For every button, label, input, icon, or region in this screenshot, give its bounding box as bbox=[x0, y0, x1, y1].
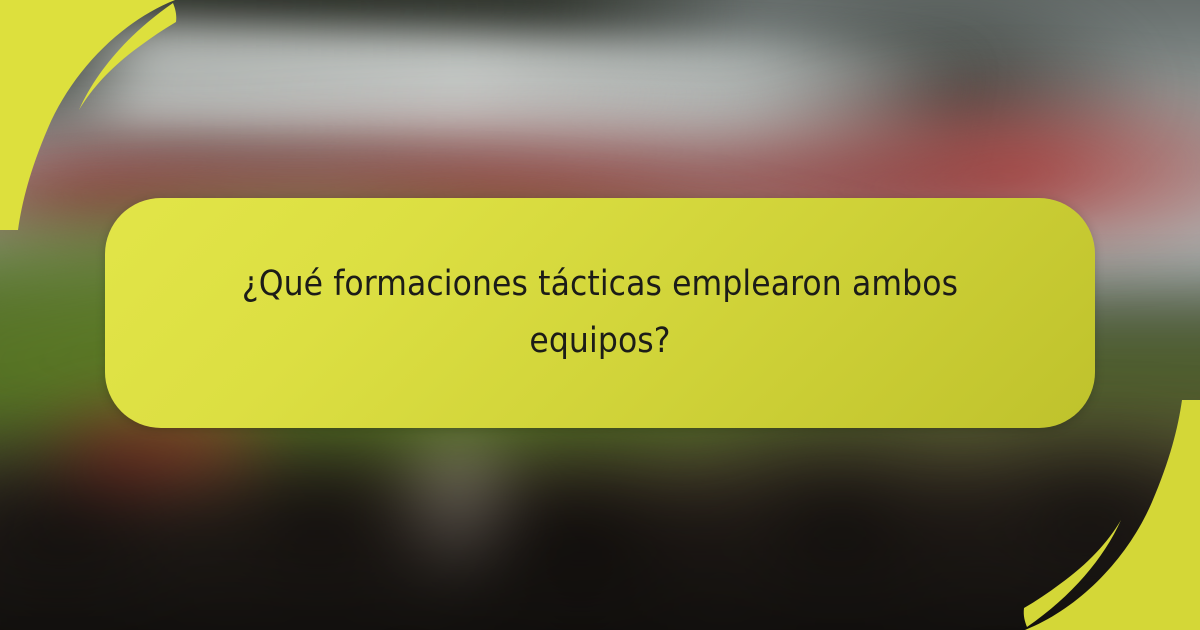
question-card-stage: ¿Qué formaciones tácticas emplearon ambo… bbox=[0, 0, 1200, 630]
question-text: ¿Qué formaciones tácticas emplearon ambo… bbox=[205, 256, 995, 369]
question-card: ¿Qué formaciones tácticas emplearon ambo… bbox=[105, 198, 1095, 428]
